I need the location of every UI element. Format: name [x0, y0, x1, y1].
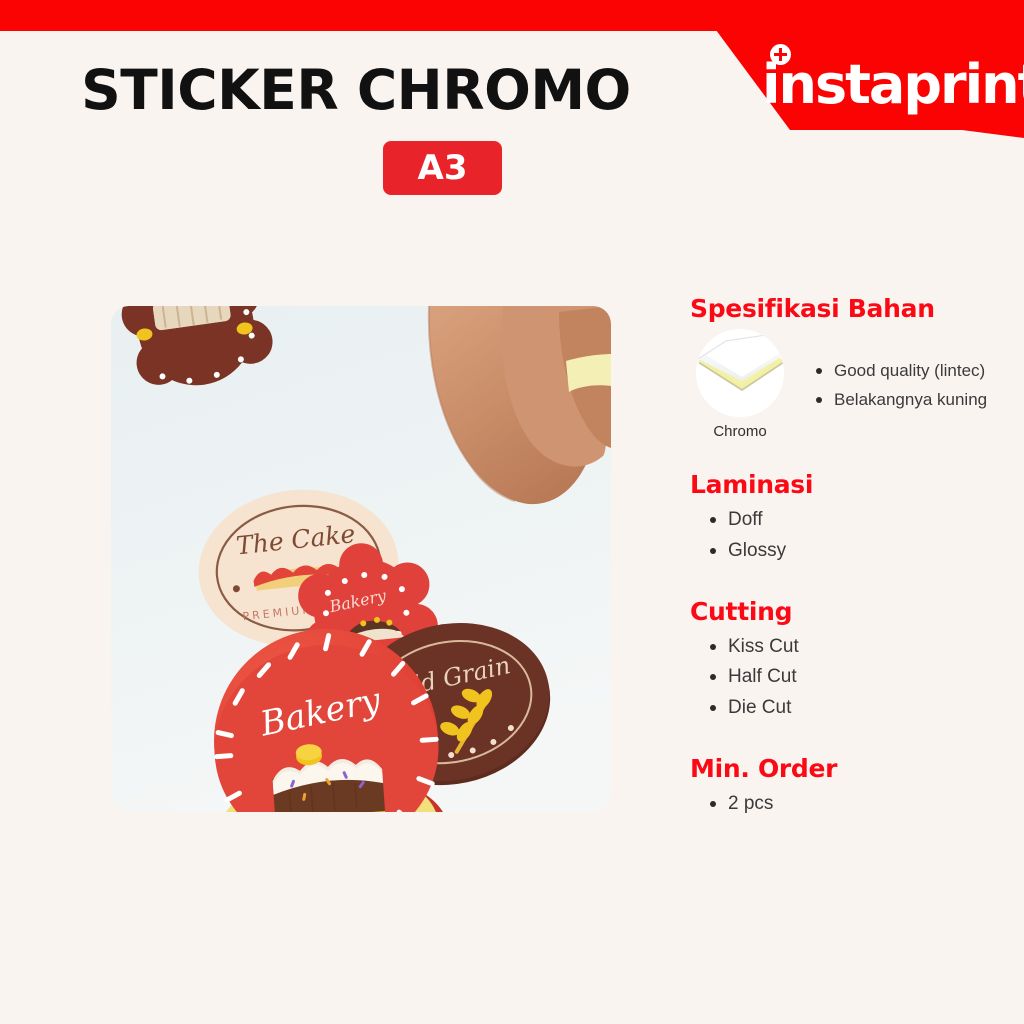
page-title: STICKER CHROMO — [0, 58, 712, 122]
material-row: Chromo Good quality (lintec) Belakangnya… — [690, 329, 1000, 440]
cutting-heading: Cutting — [690, 597, 1000, 626]
list-item: Doff — [708, 505, 1000, 536]
list-item: Good quality (lintec) — [814, 357, 987, 386]
material-caption: Chromo — [690, 423, 790, 440]
material-heading: Spesifikasi Bahan — [690, 294, 1000, 323]
plus-circle-icon — [770, 44, 791, 65]
brand-name-text: instaprint — [762, 53, 1024, 116]
material-thumb-wrap: Chromo — [690, 329, 790, 440]
min-order-bullet-list: 2 pcs — [708, 789, 1000, 820]
list-item: Belakangnya kuning — [814, 386, 987, 415]
min-order-heading: Min. Order — [690, 754, 1000, 783]
chromo-sheet-icon — [696, 329, 784, 417]
cutting-bullet-list: Kiss Cut Half Cut Die Cut — [708, 632, 1000, 724]
specifications-panel: Spesifikasi Bahan — [690, 294, 1000, 820]
list-item: Kiss Cut — [708, 632, 1000, 663]
list-item: 2 pcs — [708, 789, 1000, 820]
material-thumbnail — [696, 329, 784, 417]
list-item: Glossy — [708, 536, 1000, 567]
brand-logo: instaprint® — [762, 46, 1024, 112]
brand-name: instaprint® — [762, 58, 1024, 112]
material-bullet-list: Good quality (lintec) Belakangnya kuning — [814, 357, 987, 414]
lamination-heading: Laminasi — [690, 470, 1000, 499]
list-item: Half Cut — [708, 662, 1000, 693]
product-photo-illustration: The Cake PREMIUM SHOP — [111, 306, 611, 812]
product-photo: The Cake PREMIUM SHOP — [111, 306, 611, 812]
size-badge: A3 — [383, 141, 502, 195]
list-item: Die Cut — [708, 693, 1000, 724]
lamination-bullet-list: Doff Glossy — [708, 505, 1000, 567]
